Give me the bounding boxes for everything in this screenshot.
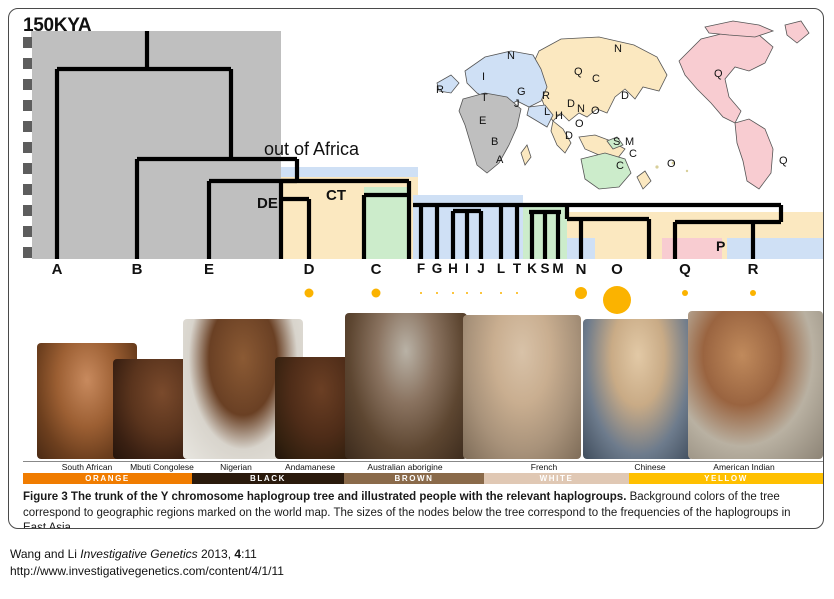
portrait-australian-aborigine (345, 313, 467, 459)
portrait-photo-strip (23, 309, 823, 459)
out-of-africa-label: out of Africa (264, 139, 359, 160)
frequency-node-n (575, 287, 587, 299)
figure-container: RITNGJEBARLHQCNDNOODDSMCCOQQ (8, 8, 824, 529)
citation-journal: Investigative Genetics (80, 547, 197, 561)
frequency-node-c (372, 289, 381, 298)
tip-label-f: F (417, 261, 425, 276)
haplogroup-tree-panel: RITNGJEBARLHQCNDNOODDSMCCOQQ (9, 9, 823, 304)
tip-label-m: M (552, 261, 563, 276)
caption-title: Figure 3 The trunk of the Y chromosome h… (23, 491, 626, 503)
tip-label-l: L (497, 261, 505, 276)
tip-label-c: C (371, 261, 382, 278)
citation-footer: Wang and Li Investigative Genetics 2013,… (10, 546, 284, 579)
ethnicity-label: Australian aborigine (367, 462, 442, 472)
frequency-node-i (466, 292, 468, 294)
skin-segment-white: WHITE (484, 473, 629, 484)
figure-caption: Figure 3 The trunk of the Y chromosome h… (23, 490, 813, 529)
skin-segment-black: BLACK (192, 473, 344, 484)
frequency-node-d (305, 289, 314, 298)
tip-label-t: T (513, 261, 521, 276)
tree-branches (9, 9, 823, 304)
citation-line: Wang and Li Investigative Genetics 2013,… (10, 546, 284, 563)
frequency-node-l (500, 292, 502, 294)
citation-url: http://www.investigativegenetics.com/con… (10, 563, 284, 580)
portrait-chinese (583, 319, 693, 459)
tip-label-q: Q (679, 261, 691, 278)
internal-node-label-p: P (716, 238, 725, 254)
skin-segment-yellow: YELLOW (629, 473, 823, 484)
ethnicity-label: Chinese (634, 462, 665, 472)
frequency-node-g (436, 292, 438, 294)
internal-node-label-ct: CT (326, 187, 346, 204)
tip-label-e: E (204, 261, 214, 278)
tip-label-a: A (52, 261, 63, 278)
ethnicity-label: Mbuti Congolese (130, 462, 194, 472)
tip-label-i: I (465, 261, 469, 276)
time-scale-bar (23, 37, 32, 259)
frequency-node-q (682, 290, 688, 296)
tip-label-o: O (611, 261, 623, 278)
time-scale-label: 150KYA (23, 15, 91, 37)
ethnicity-label-row: South AfricanMbuti CongoleseNigerianAnda… (23, 461, 823, 473)
frequency-node-f (420, 292, 422, 294)
tip-label-r: R (748, 261, 759, 278)
skin-colour-bar: ORANGEBLACKBROWNWHITEYELLOW (23, 473, 823, 484)
skin-segment-orange: ORANGE (23, 473, 192, 484)
skin-segment-brown: BROWN (344, 473, 484, 484)
internal-node-label-de: DE (257, 195, 278, 212)
ethnicity-label: American Indian (713, 462, 774, 472)
citation-year: 2013, (198, 547, 235, 561)
ethnicity-label: Andamanese (285, 462, 335, 472)
ethnicity-label: Nigerian (220, 462, 252, 472)
tip-label-b: B (132, 261, 143, 278)
frequency-node-h (452, 292, 454, 294)
frequency-node-t (516, 292, 518, 294)
tip-label-s: S (540, 261, 549, 276)
tip-label-n: N (576, 261, 587, 278)
tip-label-j: J (477, 261, 485, 276)
tip-label-d: D (304, 261, 315, 278)
portrait-american-indian (688, 311, 823, 459)
portrait-french (463, 315, 581, 459)
tip-label-k: K (527, 261, 537, 276)
tip-label-g: G (432, 261, 443, 276)
ethnicity-label: South African (62, 462, 113, 472)
citation-authors: Wang and Li (10, 547, 80, 561)
ethnicity-label: French (531, 462, 557, 472)
frequency-node-j (480, 292, 482, 294)
tip-label-h: H (448, 261, 458, 276)
frequency-node-r (750, 290, 756, 296)
citation-issue: :11 (241, 547, 257, 561)
